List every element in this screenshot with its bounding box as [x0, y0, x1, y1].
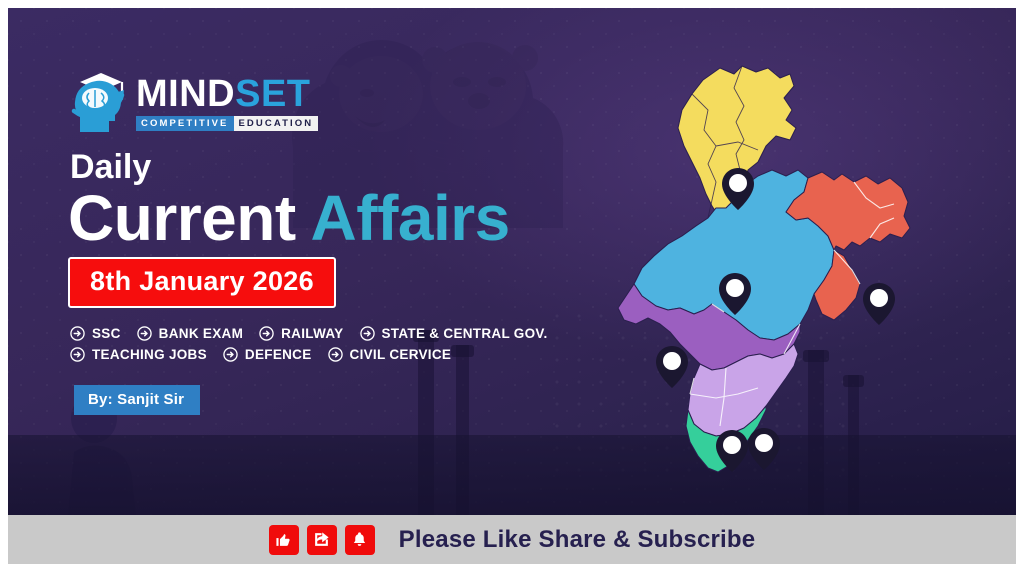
- map-pin-icon[interactable]: [748, 428, 780, 470]
- exam-item[interactable]: DEFENCE: [223, 347, 312, 362]
- exam-item-label: BANK EXAM: [159, 326, 243, 341]
- exam-item[interactable]: STATE & CENTRAL GOV.: [360, 326, 548, 341]
- arrow-right-circle-icon: [328, 347, 343, 362]
- arrow-right-circle-icon: [259, 326, 274, 341]
- pillar-left-2: [456, 345, 469, 515]
- exam-item[interactable]: BANK EXAM: [137, 326, 243, 341]
- brand-name-part2: SET: [235, 73, 310, 115]
- social-button-group: [269, 525, 375, 555]
- page-title-part1: Current: [68, 182, 296, 254]
- exam-item-label: CIVIL CERVICE: [350, 347, 452, 362]
- author-badge: By: Sanjit Sir: [74, 385, 200, 415]
- map-pin-icon[interactable]: [656, 346, 688, 388]
- brand-tagline-part2: EDUCATION: [234, 116, 319, 131]
- share-icon: [313, 531, 330, 548]
- graduation-cap-brain-head-icon: [68, 66, 130, 134]
- exam-row-2: TEACHING JOBS DEFENCE CIVIL CERVICE: [70, 347, 610, 362]
- arrow-right-circle-icon: [137, 326, 152, 341]
- exam-item-label: DEFENCE: [245, 347, 312, 362]
- india-map-svg: [608, 58, 938, 478]
- brand-name: MINDSET: [136, 75, 318, 113]
- poster-canvas: MINDSET COMPETITIVE EDUCATION Daily Curr…: [0, 0, 1024, 572]
- exam-item[interactable]: TEACHING JOBS: [70, 347, 207, 362]
- arrow-right-circle-icon: [360, 326, 375, 341]
- exam-item[interactable]: RAILWAY: [259, 326, 343, 341]
- exam-row-1: SSC BANK EXAM RAILWAY STATE & CENTRAL GO…: [70, 326, 610, 341]
- thumbs-up-icon: [275, 531, 292, 548]
- main-stage: MINDSET COMPETITIVE EDUCATION Daily Curr…: [8, 8, 1016, 515]
- exam-category-list: SSC BANK EXAM RAILWAY STATE & CENTRAL GO…: [70, 326, 610, 368]
- page-title: Current Affairs: [68, 186, 510, 250]
- share-button[interactable]: [307, 525, 337, 555]
- like-button[interactable]: [269, 525, 299, 555]
- india-map[interactable]: [608, 58, 938, 478]
- brand-tagline: COMPETITIVE EDUCATION: [136, 116, 318, 131]
- exam-item-label: STATE & CENTRAL GOV.: [382, 326, 548, 341]
- brand-name-part1: MIND: [136, 73, 235, 115]
- page-title-part2: Affairs: [311, 182, 510, 254]
- footer-cta-text: Please Like Share & Subscribe: [399, 526, 756, 554]
- exam-item-label: RAILWAY: [281, 326, 343, 341]
- map-pin-icon[interactable]: [863, 283, 895, 325]
- arrow-right-circle-icon: [223, 347, 238, 362]
- arrow-right-circle-icon: [70, 347, 85, 362]
- exam-item-label: SSC: [92, 326, 121, 341]
- date-badge: 8th January 2026: [68, 257, 336, 308]
- bell-icon: [351, 531, 368, 548]
- exam-item[interactable]: SSC: [70, 326, 121, 341]
- arrow-right-circle-icon: [70, 326, 85, 341]
- subscribe-bell-button[interactable]: [345, 525, 375, 555]
- exam-item-label: TEACHING JOBS: [92, 347, 207, 362]
- exam-item[interactable]: CIVIL CERVICE: [328, 347, 452, 362]
- brand-tagline-part1: COMPETITIVE: [136, 116, 234, 131]
- footer-bar: Please Like Share & Subscribe: [8, 515, 1016, 564]
- brand-logo[interactable]: MINDSET COMPETITIVE EDUCATION: [68, 66, 318, 134]
